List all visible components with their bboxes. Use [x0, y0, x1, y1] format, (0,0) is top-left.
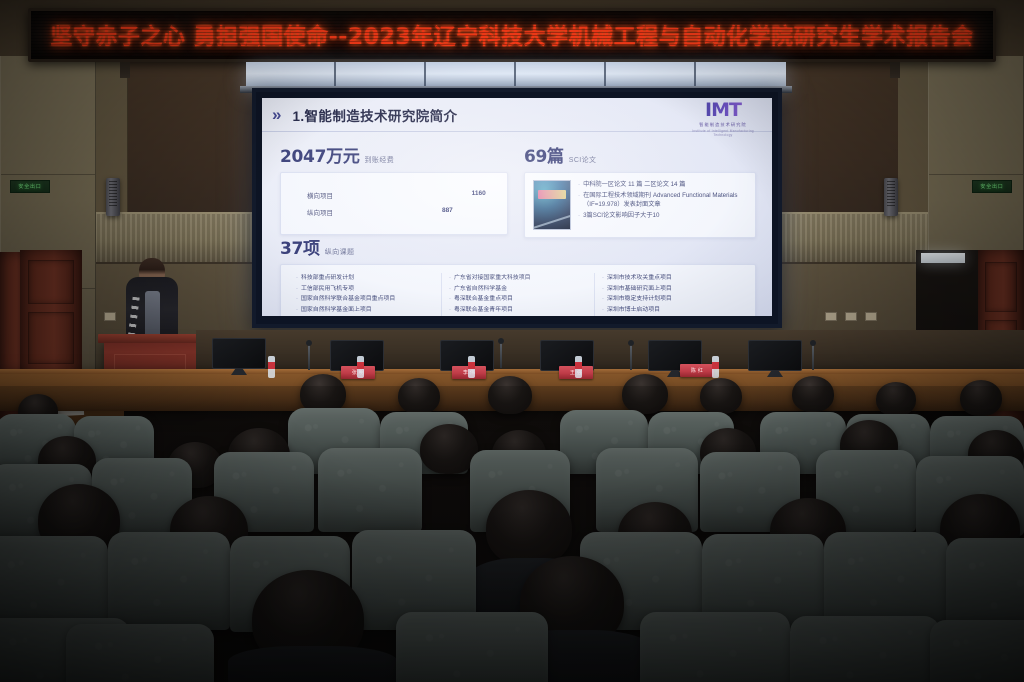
sci-bullet-list: ·中科院一区论文 11 篇 二区论文 14 篇 ·在国际工程技术领域期刊 Adv…: [578, 180, 747, 230]
microphone-1: [308, 344, 310, 370]
bar-row: 纵向项目 887: [287, 207, 495, 217]
list-item: ·3篇SCI论文影响因子大于10: [578, 211, 747, 221]
monitor-6: [748, 340, 802, 371]
seat: [930, 620, 1024, 682]
seat: [946, 538, 1024, 632]
list-item: ·广东省自然科学基金: [449, 284, 587, 295]
wall-outlet-a[interactable]: [825, 312, 837, 321]
projects-panel: 37项 纵向课题 ·科技部重点研发计划 ·工信部民用飞机专项 ·国家自然科学联合…: [280, 234, 756, 316]
bar-row: 横向项目 1160: [287, 190, 495, 200]
projects-column-1: ·广东省对接国家重大科技项目 ·广东省自然科学基金 ·粤深联合基金重点项目 ·粤…: [441, 273, 594, 316]
sci-bullet-0: 中科院一区论文 11 篇 二区论文 14 篇: [583, 180, 685, 190]
bar-value-0: 1160: [472, 190, 486, 197]
list-item: ·国家自然科学联合基金项目重点项目: [296, 294, 434, 305]
sci-bullet-1: 在国际工程技术领域期刊 Advanced Functional Material…: [583, 191, 747, 210]
list-item: ·粤深联合基金青年项目: [449, 305, 587, 316]
audience-shoulders: [228, 646, 398, 682]
funding-caption: 到账经费: [365, 155, 395, 165]
stage-backdrop: [196, 330, 1024, 370]
exit-sign-left: 安全出口: [10, 180, 50, 193]
name-placard-4: 陈 红: [680, 364, 714, 377]
slide-header: » 1.智能制造技术研究院简介 IMT 智能制造技术研究院 Institute …: [262, 98, 772, 132]
water-bottle-3: [575, 356, 582, 378]
funding-amount: 2047万元: [280, 142, 360, 167]
exit-sign-right-label: 安全出口: [980, 183, 1003, 190]
list-item: ·科技部重点研发计划: [296, 273, 434, 284]
audience-head: [398, 378, 440, 414]
wall-outlet-c[interactable]: [865, 312, 877, 321]
audience-head: [622, 374, 668, 414]
monitor-1: [212, 338, 266, 369]
sci-panel: 69篇 SCI论文 ·中科院一区论文 11 篇 二区论文 14 篇 ·在国际工程…: [524, 142, 756, 238]
journal-cover-image: [533, 180, 571, 230]
project-item: 科技部重点研发计划: [301, 273, 354, 284]
project-item: 国家自然科学基金面上项目: [301, 305, 372, 316]
audience-head: [488, 376, 532, 414]
seat: [318, 448, 422, 532]
water-bottle-1: [357, 356, 364, 378]
chevron-right-icon: »: [272, 106, 278, 123]
funding-bar-chart: 横向项目 1160 纵向项目 887: [280, 172, 508, 235]
seat: [640, 612, 790, 682]
funding-panel: 2047万元 到账经费 横向项目 1160 纵向项目: [280, 142, 508, 235]
audience-head: [876, 382, 916, 416]
seat: [790, 616, 940, 682]
exit-sign-left-label: 安全出口: [18, 183, 41, 190]
microphone-4: [812, 344, 814, 370]
projects-caption: 纵向课题: [325, 247, 355, 257]
microphone-2: [500, 342, 502, 368]
water-bottle-2: [468, 356, 475, 378]
list-item: ·深圳市基础研究面上项目: [602, 284, 740, 295]
project-item: 广东省自然科学基金: [454, 284, 507, 295]
sci-amount: 69篇: [524, 142, 564, 167]
wall-outlet-b[interactable]: [845, 312, 857, 321]
seat: [108, 532, 230, 630]
list-item: ·深圳市技术攻关重点项目: [602, 273, 740, 284]
project-item: 广东省对接国家重大科技项目: [454, 273, 531, 284]
led-banner: 坚守赤子之心 勇担强国使命--2023年辽宁科技大学机械工程与自动化学院研究生学…: [28, 8, 996, 62]
bar-value-1: 887: [442, 207, 453, 214]
audience-head: [960, 380, 1002, 416]
list-item: ·广东省对接国家重大科技项目: [449, 273, 587, 284]
seat: [396, 612, 548, 682]
seat: [66, 624, 214, 682]
audience-seating: [0, 390, 1024, 682]
projects-column-2: ·深圳市技术攻关重点项目 ·深圳市基础研究面上项目 ·深圳市稳定支持计划项目 ·…: [594, 273, 747, 316]
projection-screen: » 1.智能制造技术研究院简介 IMT 智能制造技术研究院 Institute …: [252, 88, 782, 328]
project-item: 粤深联合基金重点项目: [454, 294, 513, 305]
wall-speaker-left: [106, 178, 120, 216]
ceiling-light-strip: [246, 62, 786, 88]
audience-head: [700, 378, 742, 414]
projects-columns: ·科技部重点研发计划 ·工信部民用飞机专项 ·国家自然科学联合基金项目重点项目 …: [280, 264, 756, 316]
bar-label-0: 横向项目: [287, 190, 339, 200]
wall-speaker-right: [884, 178, 898, 216]
water-bottle-4: [712, 356, 719, 378]
audience-head: [792, 376, 834, 412]
list-item: ·深圳市博士启动项目: [602, 305, 740, 316]
list-item: ·在国际工程技术领域期刊 Advanced Functional Materia…: [578, 191, 747, 210]
slide-surface: » 1.智能制造技术研究院简介 IMT 智能制造技术研究院 Institute …: [262, 98, 772, 316]
project-item: 深圳市基础研究面上项目: [607, 284, 672, 295]
sci-bullet-2: 3篇SCI论文影响因子大于10: [583, 211, 659, 221]
led-banner-text: 坚守赤子之心 勇担强国使命--2023年辽宁科技大学机械工程与自动化学院研究生学…: [50, 19, 973, 51]
project-item: 粤深联合基金青年项目: [454, 305, 513, 316]
sci-caption: SCI论文: [569, 155, 597, 165]
slide-title: 1.智能制造技术研究院简介: [292, 105, 457, 125]
conference-photo: 安全出口 安全出口 坚守赤子之心 勇担强国使命--2023年辽宁科技大学机械工程…: [0, 0, 1024, 682]
projects-column-0: ·科技部重点研发计划 ·工信部民用飞机专项 ·国家自然科学联合基金项目重点项目 …: [289, 273, 441, 316]
list-item: ·粤深联合基金重点项目: [449, 294, 587, 305]
imt-logo-en: Institute of Intelligent Manufacturing T…: [684, 129, 762, 137]
imt-logo-cn: 智能制造技术研究院: [684, 122, 762, 128]
project-item: 深圳市稳定支持计划项目: [607, 294, 672, 305]
list-item: ·国家自然科学基金面上项目: [296, 305, 434, 316]
bar-label-1: 纵向项目: [287, 207, 339, 217]
imt-logo-mark: IMT: [684, 101, 762, 120]
project-item: 国家自然科学基金青年项目: [301, 316, 372, 317]
microphone-3: [630, 344, 632, 370]
water-bottle-5: [268, 356, 275, 378]
banner-mount-left: [120, 62, 130, 78]
audience-head: [486, 490, 572, 566]
imt-logo: IMT 智能制造技术研究院 Institute of Intelligent M…: [684, 101, 762, 137]
project-item: 工信部民用飞机专项: [301, 284, 354, 295]
exit-sign-right: 安全出口: [972, 180, 1012, 193]
banner-mount-right: [890, 62, 900, 78]
project-item: 深圳市技术攻关重点项目: [607, 273, 672, 284]
project-item: 国家自然科学联合基金项目重点项目: [301, 294, 395, 305]
sci-card: ·中科院一区论文 11 篇 二区论文 14 篇 ·在国际工程技术领域期刊 Adv…: [524, 172, 756, 238]
list-item: ·国家自然科学基金青年项目: [296, 316, 434, 317]
list-item: ·工信部民用飞机专项: [296, 284, 434, 295]
wall-outlet-left[interactable]: [104, 312, 116, 321]
list-item: ·深圳市稳定支持计划项目: [602, 294, 740, 305]
doorway-light-strip: [921, 253, 965, 263]
projects-amount: 37项: [280, 234, 320, 259]
project-item: 深圳市博士启动项目: [607, 305, 660, 316]
list-item: ·中科院一区论文 11 篇 二区论文 14 篇: [578, 180, 747, 190]
